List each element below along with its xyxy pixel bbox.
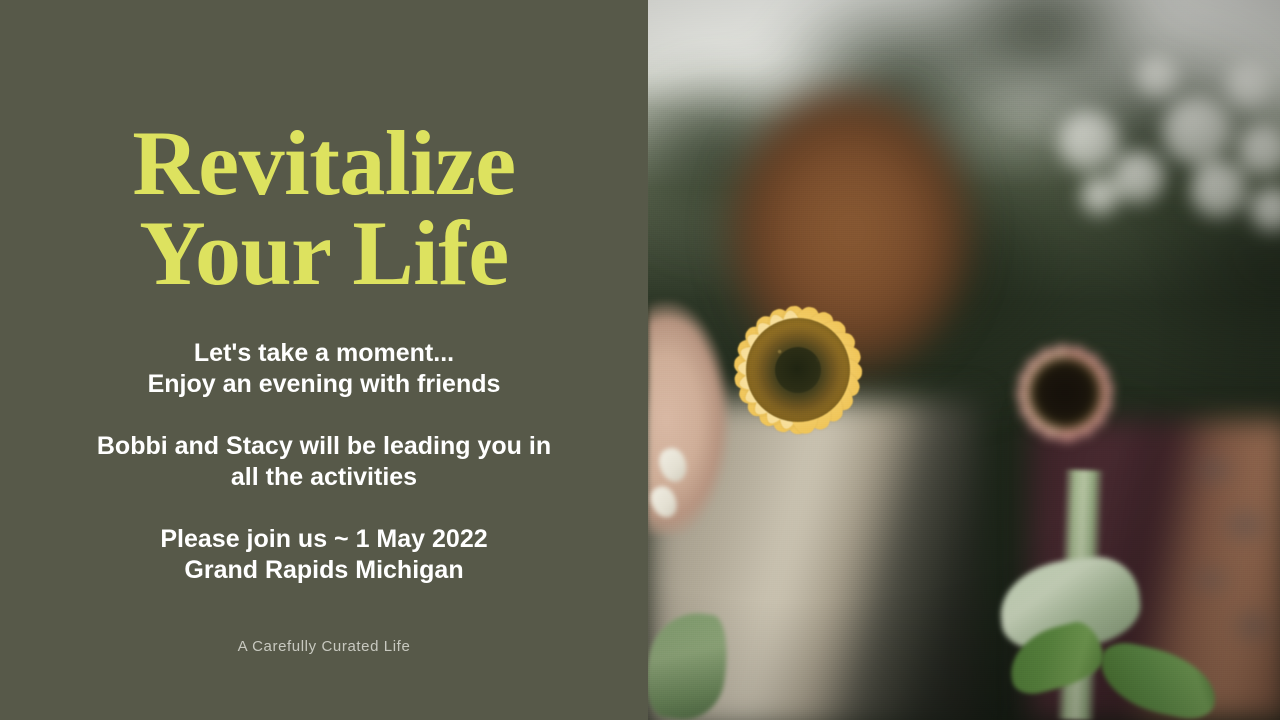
brand-tagline: A Carefully Curated Life [0,638,648,655]
intro-line-1: Let's take a moment... [0,338,648,369]
page-title: Revitalize Your Life [0,118,648,298]
headline-line-2: Your Life [0,208,648,298]
invitation-hosts: Bobbi and Stacy will be leading you in a… [0,431,648,493]
hosts-line-1: Bobbi and Stacy will be leading you in [0,431,648,462]
hosts-line-2: all the activities [0,462,648,493]
text-panel: Revitalize Your Life Let's take a moment… [0,0,648,720]
invitation-intro: Let's take a moment... Enjoy an evening … [0,338,648,400]
event-date: Please join us ~ 1 May 2022 [0,524,648,555]
event-location: Grand Rapids Michigan [0,555,648,586]
intro-line-2: Enjoy an evening with friends [0,369,648,400]
invitation-details: Please join us ~ 1 May 2022 Grand Rapids… [0,524,648,586]
invitation-body: Let's take a moment... Enjoy an evening … [0,338,648,586]
headline-line-1: Revitalize [0,118,648,208]
event-invitation-poster: Revitalize Your Life Let's take a moment… [0,0,1280,720]
